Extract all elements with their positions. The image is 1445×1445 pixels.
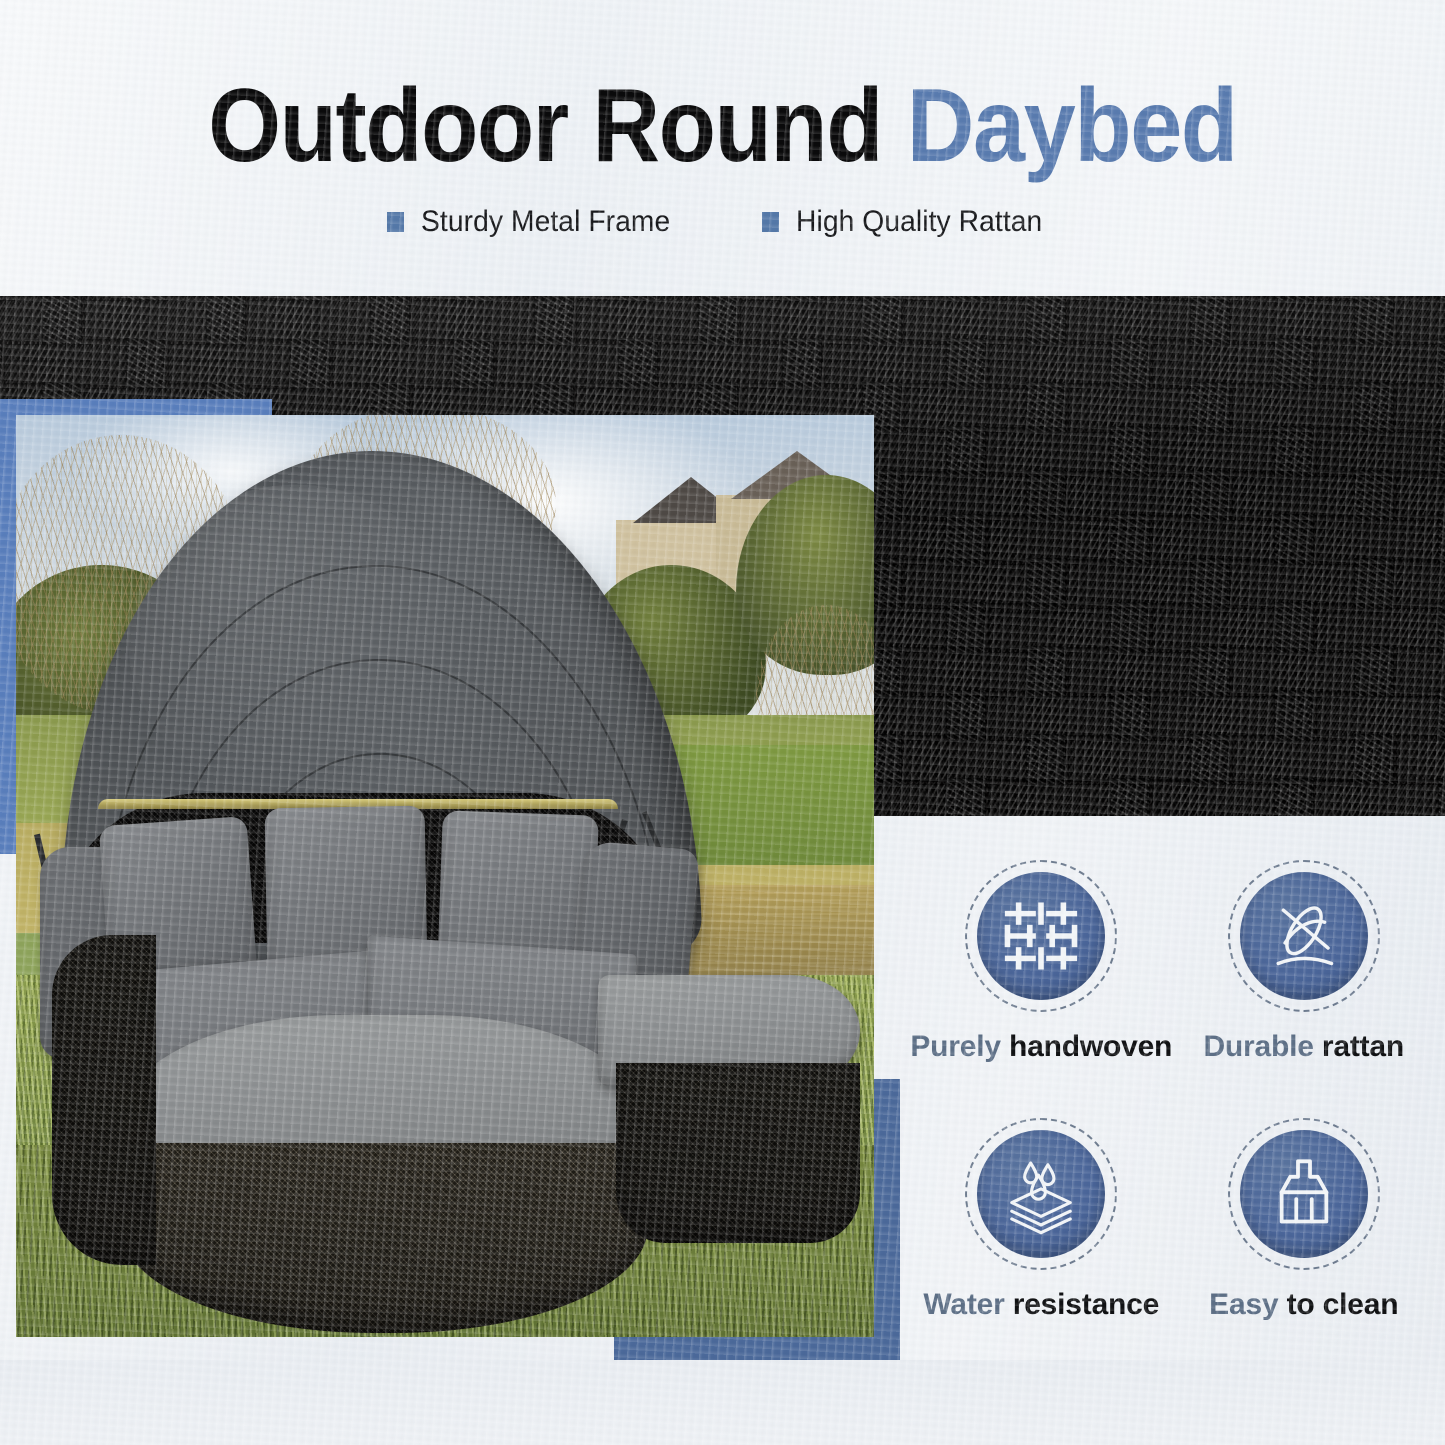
header-section: Outdoor Round Daybed Sturdy Metal Frame …: [0, 0, 1445, 296]
infographic-page: Outdoor Round Daybed Sturdy Metal Frame …: [0, 0, 1445, 1445]
feature-durable-rattan[interactable]: Durable rattan: [1173, 860, 1436, 1102]
feature-label: Purely handwoven: [910, 1030, 1172, 1064]
feature-badge: [965, 1118, 1117, 1270]
feature-badge: [965, 860, 1117, 1012]
feature-badge: [1228, 1118, 1380, 1270]
feature-label: Durable rattan: [1203, 1030, 1404, 1064]
feature-grid: Purely handwoven Durable: [900, 860, 1445, 1360]
square-marker-icon: [387, 212, 404, 232]
feature-water-resistance[interactable]: Water resistance: [910, 1118, 1173, 1360]
title-primary: Outdoor Round: [208, 68, 882, 184]
bottom-strip: [0, 1360, 1445, 1445]
feature-label-second: rattan: [1322, 1030, 1404, 1063]
product-photo: [16, 415, 874, 1337]
feature-label-first: Easy: [1209, 1288, 1278, 1321]
feature-label-second: to clean: [1287, 1288, 1399, 1321]
feature-purely-handwoven[interactable]: Purely handwoven: [910, 860, 1173, 1102]
feature-easy-to-clean[interactable]: Easy to clean: [1173, 1118, 1436, 1360]
feature-label-first: Water: [923, 1288, 1004, 1321]
square-marker-icon: [762, 212, 779, 232]
no-fade-scratch-resistant-icon: [1261, 893, 1347, 979]
subtitle-bullet-row: Sturdy Metal Frame High Quality Rattan: [0, 205, 1445, 239]
bullet-label: Sturdy Metal Frame: [421, 205, 670, 239]
bullet-label: High Quality Rattan: [796, 205, 1042, 239]
bullet-high-quality-rattan: High Quality Rattan: [762, 205, 1058, 239]
feature-label-second: resistance: [1013, 1288, 1159, 1321]
page-title: Outdoor Round Daybed: [72, 72, 1373, 181]
feature-label: Easy to clean: [1209, 1288, 1398, 1322]
feature-label-first: Purely: [910, 1030, 1001, 1063]
woven-basket-weave-icon: [998, 893, 1084, 979]
bullet-sturdy-metal-frame: Sturdy Metal Frame: [387, 205, 686, 239]
title-accent: Daybed: [907, 68, 1237, 184]
feature-badge: [1228, 860, 1380, 1012]
side-ottoman-base: [616, 1063, 860, 1243]
feature-label-first: Durable: [1203, 1030, 1313, 1063]
feature-label: Water resistance: [923, 1288, 1159, 1322]
cleaning-brush-icon: [1261, 1151, 1347, 1237]
feature-label-second: handwoven: [1009, 1030, 1172, 1063]
daybed-left-skirt: [52, 935, 156, 1265]
water-droplets-on-layers-icon: [998, 1151, 1084, 1237]
